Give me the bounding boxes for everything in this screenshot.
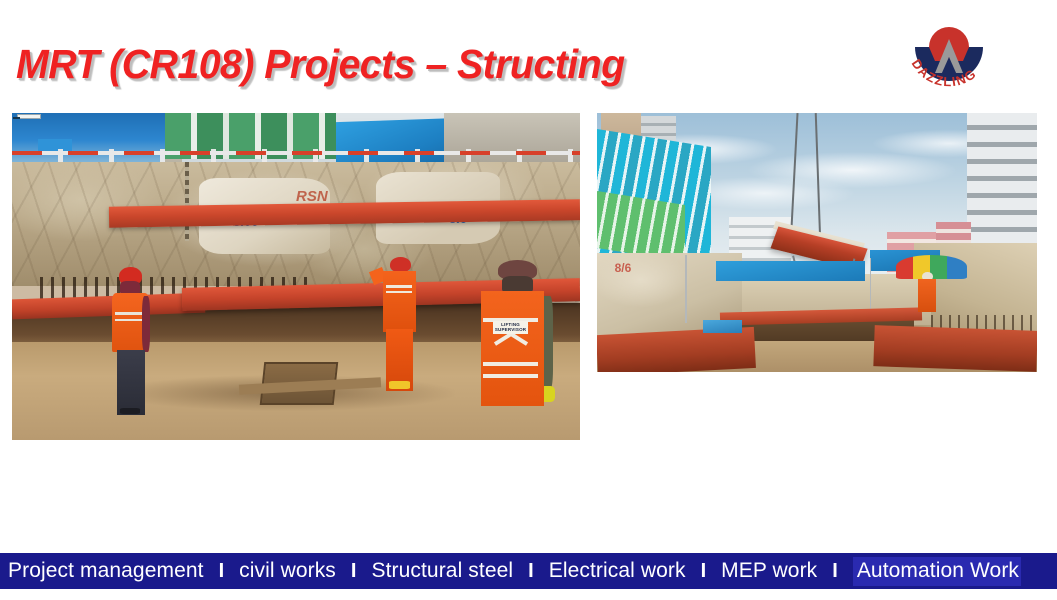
slide-canvas: MRT (CR108) Projects – Structing DAZZLIN… [0,0,1057,600]
steel-waler-beam-front-left [597,326,756,372]
banner-item-electrical-work[interactable]: Electrical work [549,559,686,583]
banner-item-structural-steel[interactable]: Structural steel [371,559,513,583]
banner-item-project-management[interactable]: Project management [8,559,204,583]
banner-item-civil-works[interactable]: civil works [239,559,336,583]
reflective-stripe [115,312,144,314]
worker-trousers [117,350,145,415]
site-office-door [13,117,21,119]
worker-in-orange-vest [918,279,936,313]
scaffold-pole [685,255,687,322]
reflective-stripe [115,319,144,321]
worker-in-orange-vest [109,267,154,431]
banner-separator: I [204,560,240,583]
worker-arm [142,296,150,352]
reflective-stripe [483,362,538,366]
red-white-barrier-rail [12,151,580,155]
logo-icon: DAZZLING [893,27,1005,95]
dazzling-logo: DAZZLING [893,27,1005,95]
reflective-stripe [386,291,412,293]
banner-item-automation-work[interactable]: Automation Work [853,557,1021,586]
photo-left-excavation[interactable]: 8.00 8.0 RSN [12,113,580,440]
blue-tarpaulin [716,261,866,282]
banner-item-mep-work[interactable]: MEP work [721,559,817,583]
services-banner: Project managementIcivil worksIStructura… [0,553,1057,589]
safety-boots [120,408,140,414]
reflective-stripe [386,285,412,287]
vest-role-label: LIFTING SUPERVISOR [493,321,527,335]
orange-coverall-legs [386,329,413,390]
banner-separator: I [513,560,549,583]
vest-role-line2: SUPERVISOR [495,328,526,333]
lifting-supervisor: LIFTING SUPERVISOR [478,260,552,440]
banner-separator: I [817,560,853,583]
photo-right-crane-lift[interactable]: 8/6 [597,113,1037,372]
hanging-chain [185,162,189,240]
worker-in-orange-coverall [378,257,421,411]
blue-material-bags [703,320,743,333]
orange-coverall-torso [383,271,416,332]
reflective-stripe [483,374,538,378]
services-banner-items: Project managementIcivil worksIStructura… [0,557,1057,586]
yellow-rubber-boots [389,381,410,389]
page-title: MRT (CR108) Projects – Structing [16,41,625,88]
steel-waler-beam-front-right [874,325,1037,372]
hi-vis-vest-supervisor: LIFTING SUPERVISOR [481,291,544,406]
rock-survey-marking: 8/6 [615,261,650,279]
banner-separator: I [336,560,372,583]
banner-separator: I [686,560,722,583]
